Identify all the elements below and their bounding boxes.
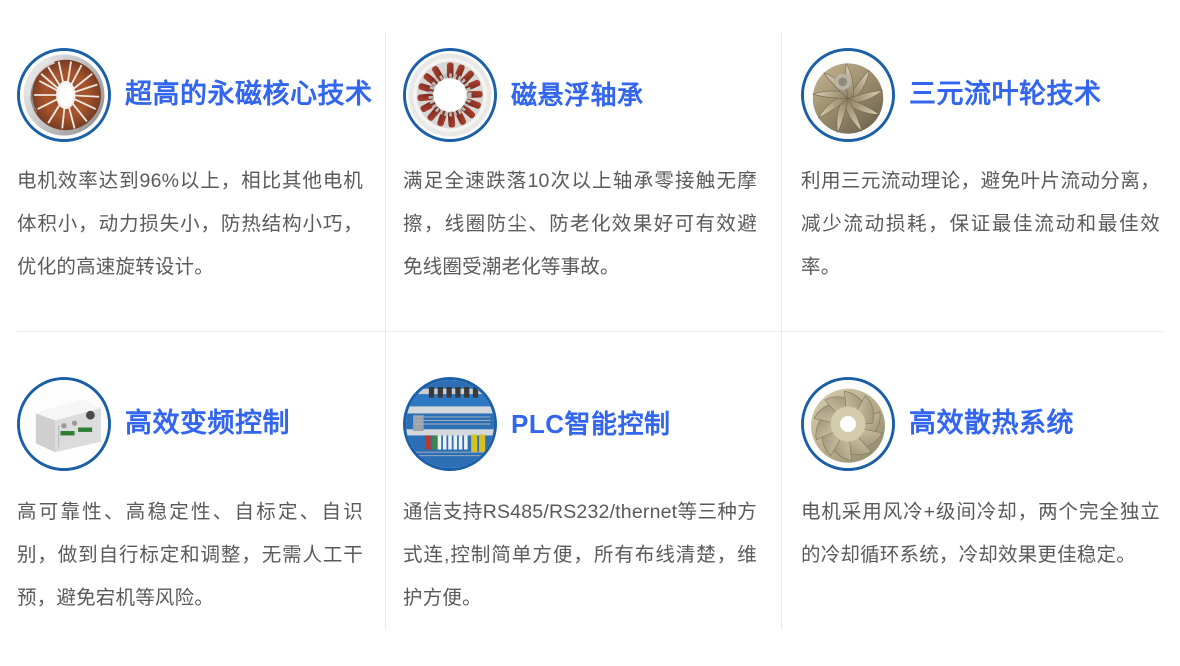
card-description: 电机采用风冷+级间冷却，两个完全独立的冷却循环系统，冷却效果更佳稳定。 xyxy=(801,491,1160,577)
feature-card-cooling: 高效散热系统 电机采用风冷+级间冷却，两个完全独立的冷却循环系统，冷却效果更佳稳… xyxy=(781,333,1180,666)
cooling-fan-icon xyxy=(801,377,895,471)
card-description: 利用三元流动理论，避免叶片流动分离，减少流动损耗，保证最佳流动和最佳效率。 xyxy=(801,160,1160,289)
card-header: PLC智能控制 xyxy=(403,376,757,472)
feature-card-plc: PLC智能控制 通信支持RS485/RS232/thernet等三种方式连,控制… xyxy=(385,333,781,666)
card-title: PLC智能控制 xyxy=(511,410,671,439)
card-title: 超高的永磁核心技术 xyxy=(125,80,373,110)
feature-card-impeller: 三元流叶轮技术 利用三元流动理论，避免叶片流动分离，减少流动损耗，保证最佳流动和… xyxy=(781,0,1180,333)
card-title: 高效散热系统 xyxy=(909,409,1074,439)
impeller-icon xyxy=(801,48,895,142)
card-header: 超高的永磁核心技术 xyxy=(17,47,363,143)
feature-card-inverter: 高效变频控制 高可靠性、高稳定性、自标定、自识别，做到自行标定和调整，无需人工干… xyxy=(0,333,385,666)
card-header: 高效散热系统 xyxy=(801,376,1160,472)
card-title: 磁悬浮轴承 xyxy=(511,81,644,110)
card-description: 电机效率达到96%以上，相比其他电机体积小，动力损失小，防热结构小巧，优化的高速… xyxy=(17,160,363,289)
card-title: 高效变频控制 xyxy=(125,409,290,439)
card-title: 三元流叶轮技术 xyxy=(909,80,1102,110)
card-header: 高效变频控制 xyxy=(17,376,363,472)
inverter-box-icon xyxy=(17,377,111,471)
feature-card-magnetic-bearing: 磁悬浮轴承 满足全速跌落10次以上轴承零接触无摩擦，线圈防尘、防老化效果好可有效… xyxy=(385,0,781,333)
card-description: 通信支持RS485/RS232/thernet等三种方式连,控制简单方便，所有布… xyxy=(403,491,757,620)
plc-cabinet-icon xyxy=(403,377,497,471)
features-grid: 超高的永磁核心技术 电机效率达到96%以上，相比其他电机体积小，动力损失小，防热… xyxy=(0,0,1180,666)
card-description: 满足全速跌落10次以上轴承零接触无摩擦，线圈防尘、防老化效果好可有效避免线圈受潮… xyxy=(403,160,757,289)
motor-core-icon xyxy=(17,48,111,142)
card-description: 高可靠性、高稳定性、自标定、自识别，做到自行标定和调整，无需人工干预，避免宕机等… xyxy=(17,491,363,620)
card-header: 三元流叶轮技术 xyxy=(801,47,1160,143)
feature-card-motor-core: 超高的永磁核心技术 电机效率达到96%以上，相比其他电机体积小，动力损失小，防热… xyxy=(0,0,385,333)
magnetic-bearing-icon xyxy=(403,48,497,142)
card-header: 磁悬浮轴承 xyxy=(403,47,757,143)
